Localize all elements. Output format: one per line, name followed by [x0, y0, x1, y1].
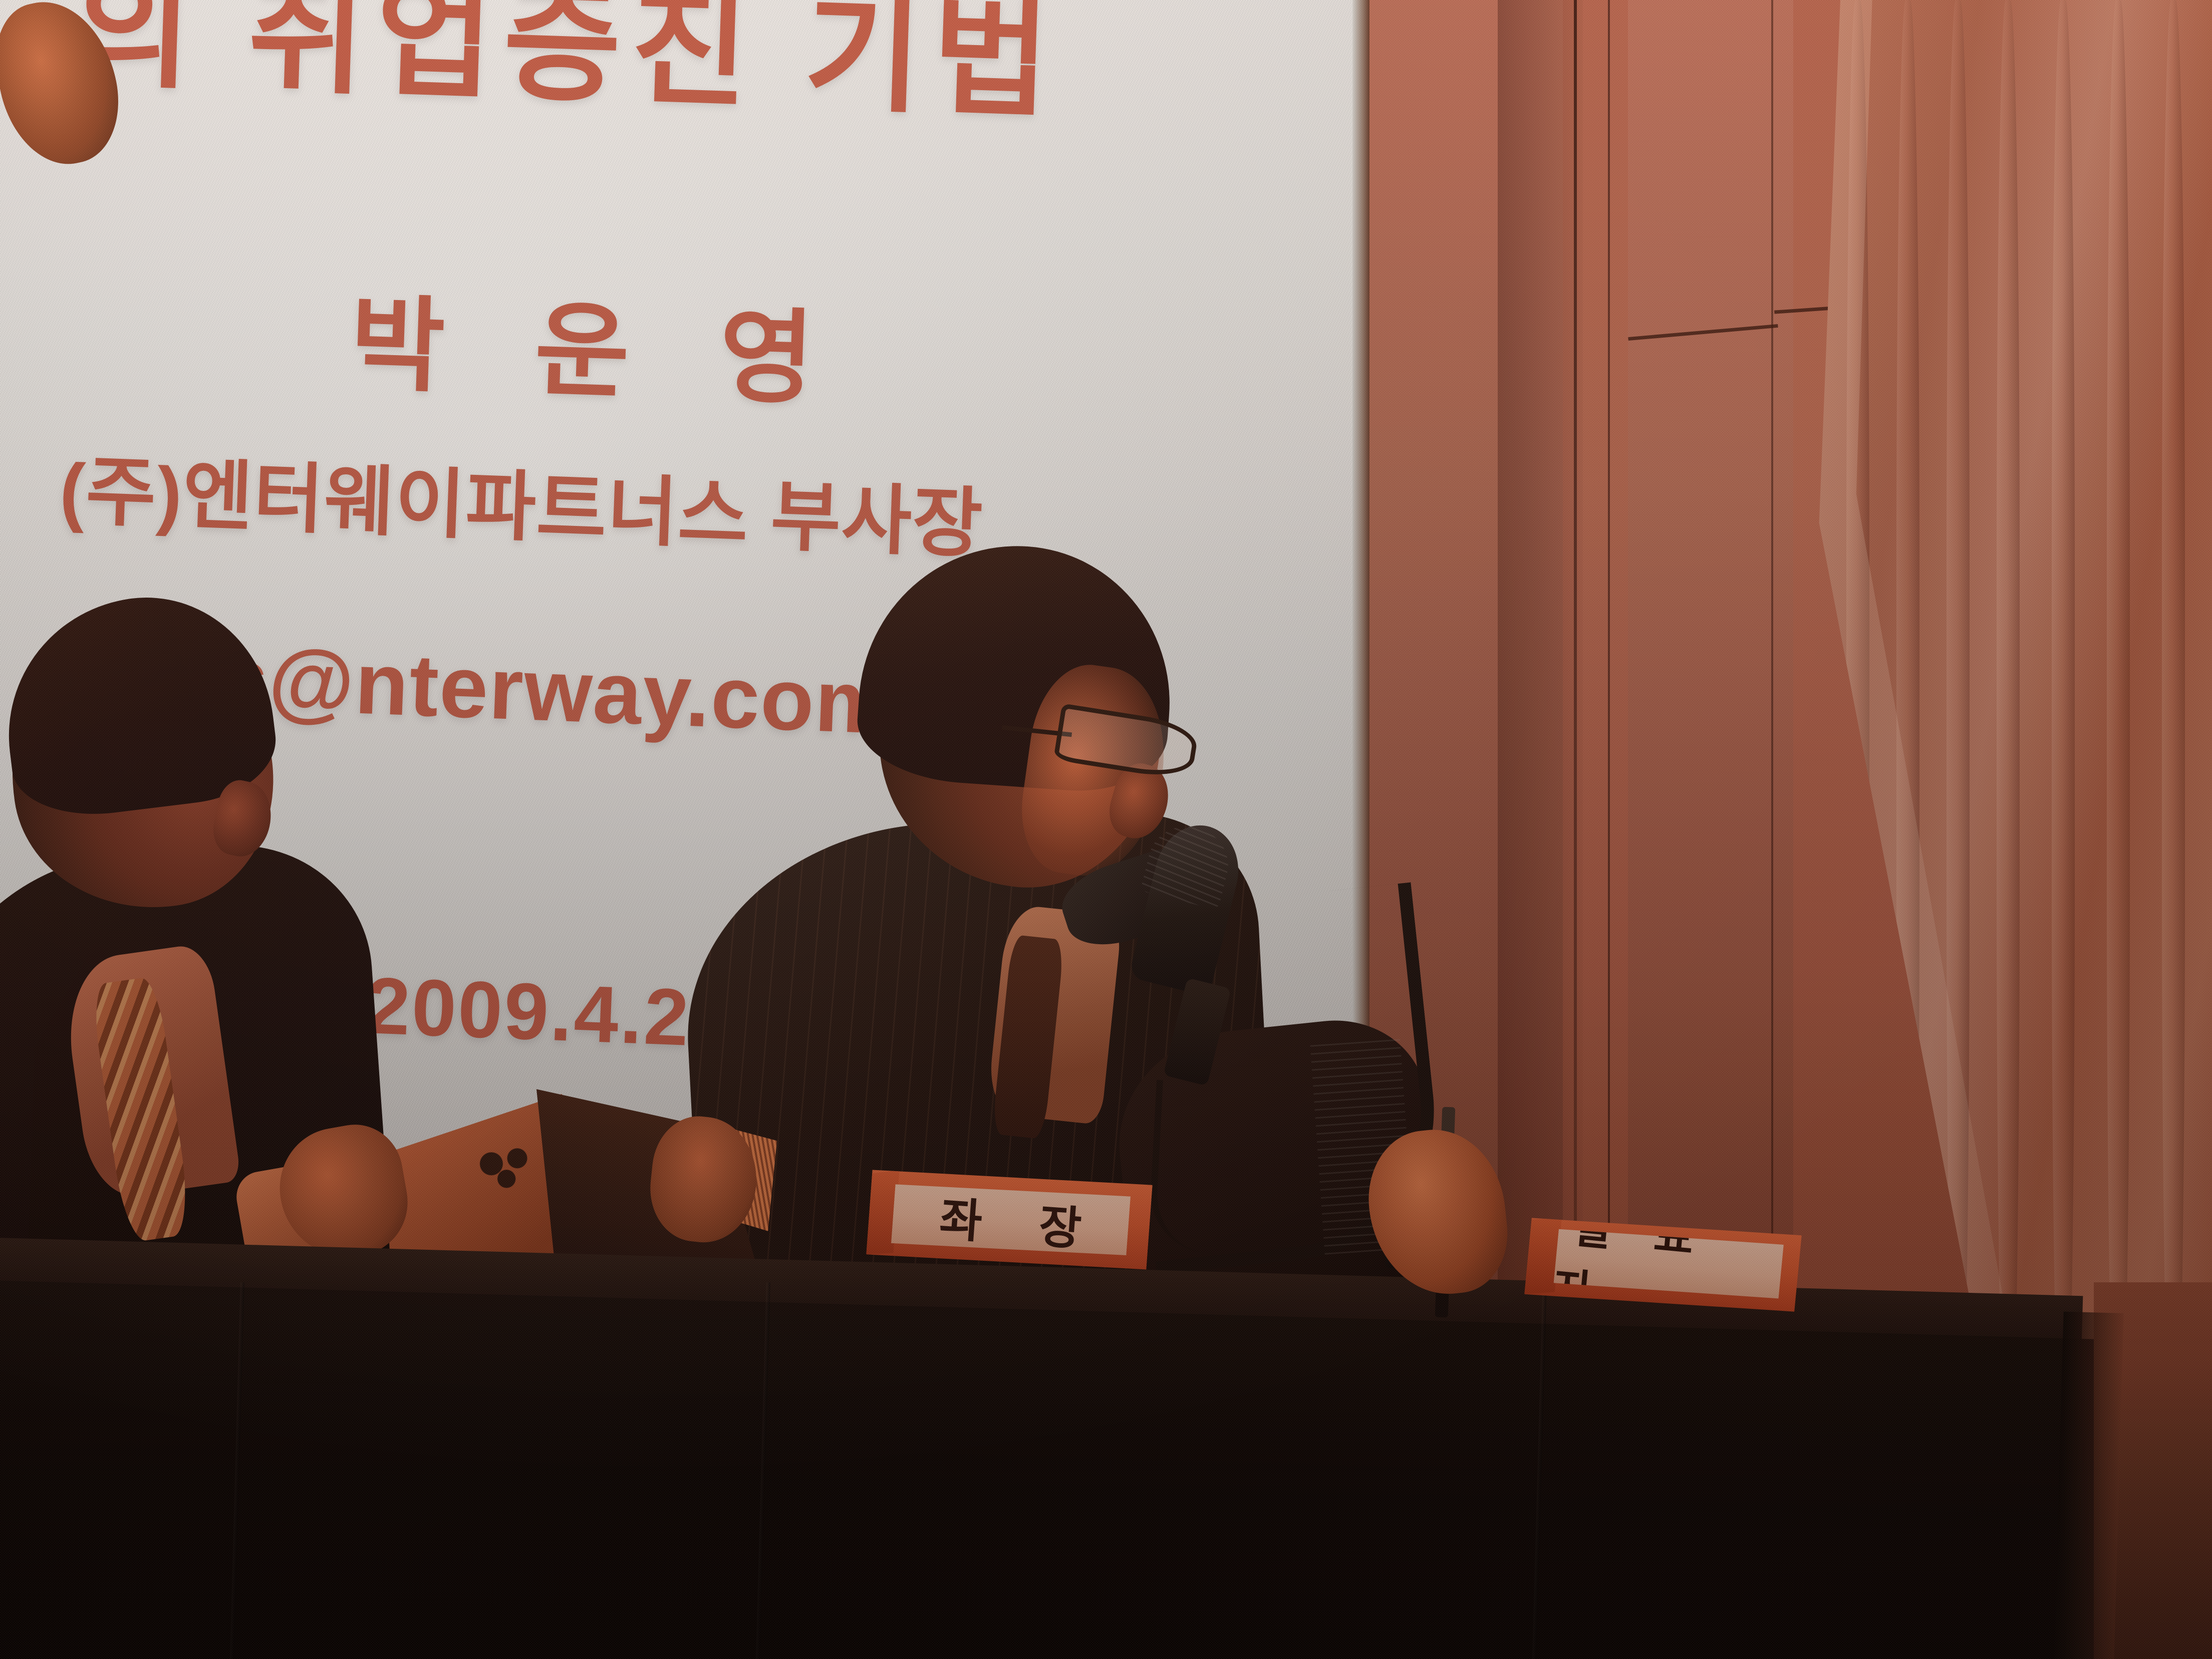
nameplate-speaker-label: 발 표 자 — [1554, 1223, 1784, 1305]
table-right-edge — [2054, 1311, 2123, 1659]
panel-table-skirt — [0, 1280, 2103, 1659]
nameplate-chairperson-label: 좌 장 — [891, 1179, 1131, 1260]
slide-presenter-name: 박 운 영 — [348, 260, 848, 426]
booklet-cover-logo — [467, 1137, 547, 1199]
microphone-cable — [1148, 1080, 1243, 1255]
photo-scene: 의 취업증진 기법 박 운 영 (주)엔터웨이파트너스 부사장 ans@nter… — [0, 0, 2212, 1659]
slide-date: 2009.4.29 — [364, 959, 738, 1065]
